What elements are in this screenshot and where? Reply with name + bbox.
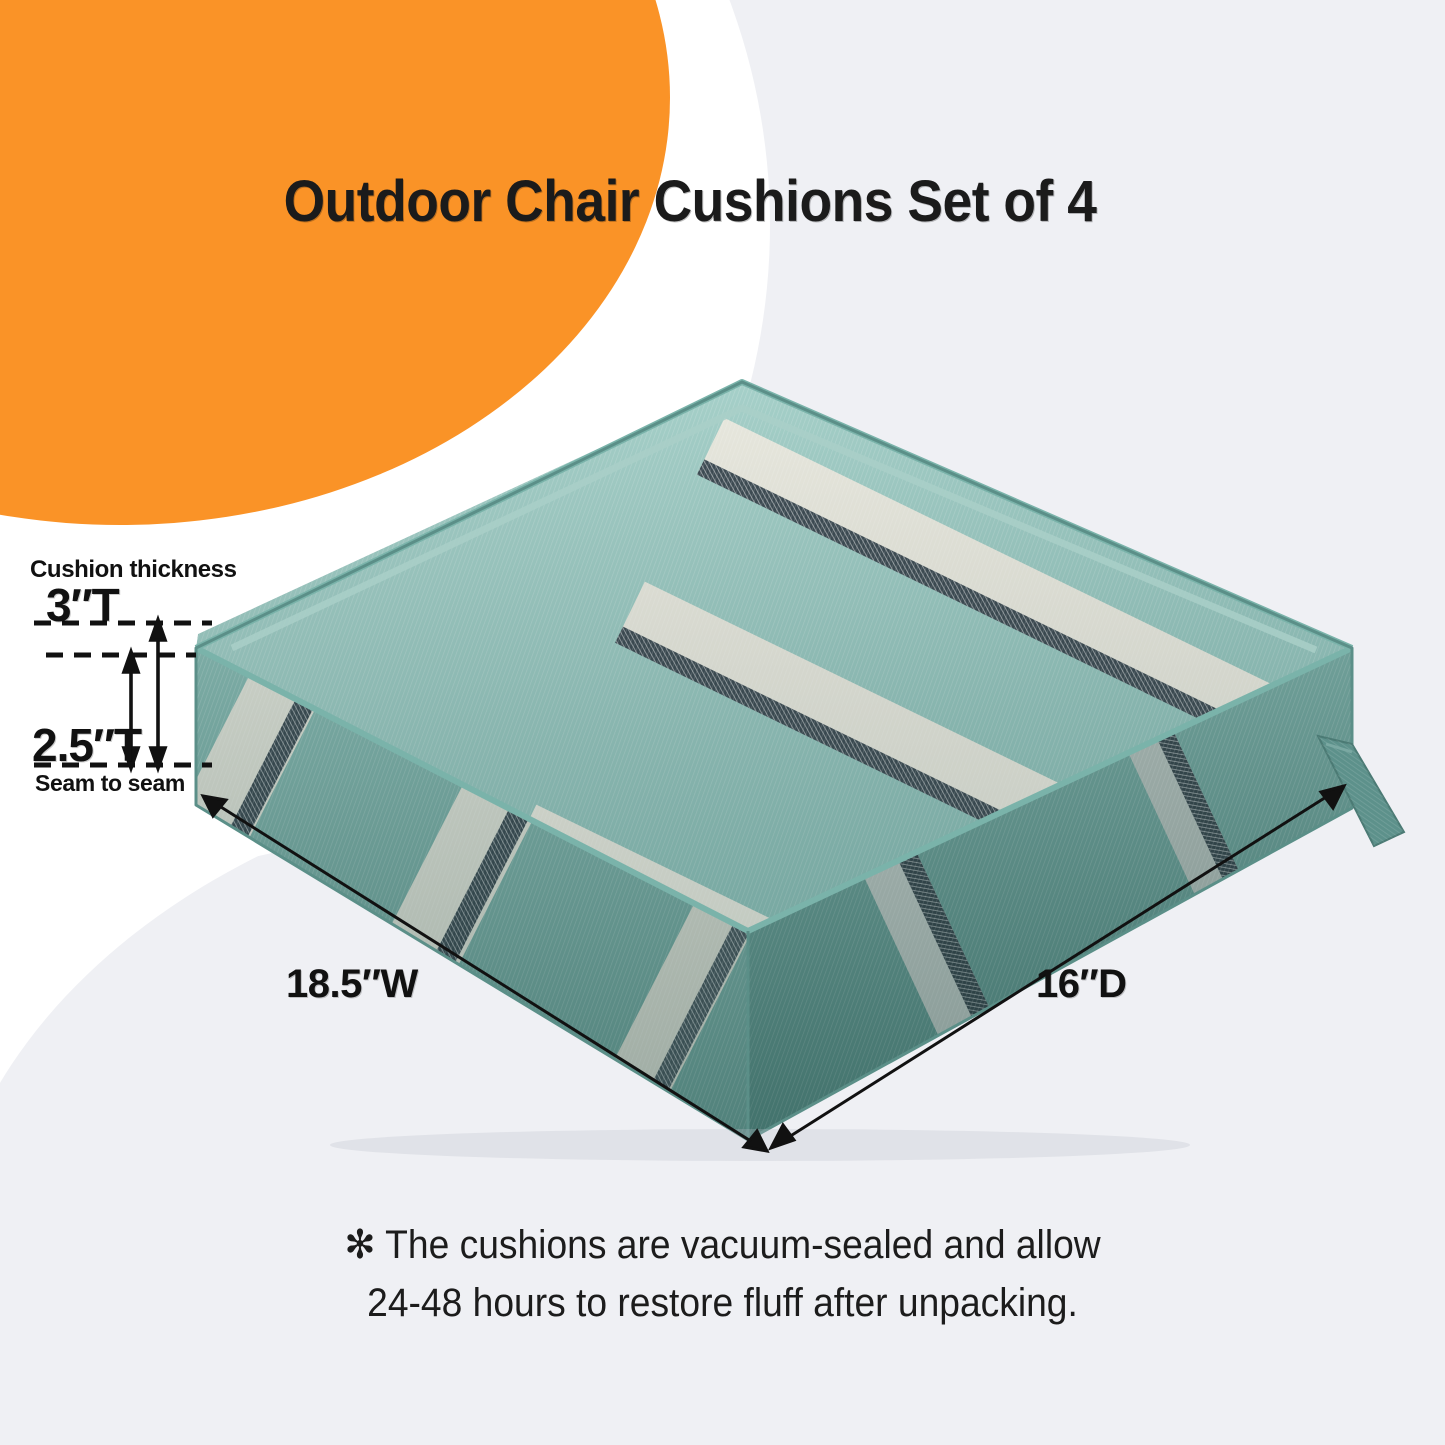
infographic-canvas: Outdoor Chair Cushions Set of 4 [0, 0, 1445, 1445]
label-seam-to-seam: Seam to seam [35, 770, 185, 797]
footnote-line-1: ✻ The cushions are vacuum-sealed and all… [51, 1216, 1395, 1274]
label-width-value: 18.5″W [286, 962, 418, 1007]
footnote-block: ✻ The cushions are vacuum-sealed and all… [51, 1216, 1395, 1332]
label-seam-value: 2.5″T [32, 718, 141, 772]
footnote-line-1-text: The cushions are vacuum-sealed and allow [385, 1223, 1100, 1267]
label-thickness-value: 3″T [46, 578, 119, 632]
arrow-thickness-3in [151, 620, 165, 768]
footnote-line-2: 24-48 hours to restore fluff after unpac… [51, 1274, 1395, 1332]
asterisk-icon: ✻ [344, 1223, 375, 1267]
label-depth-value: 16″D [1036, 962, 1127, 1007]
